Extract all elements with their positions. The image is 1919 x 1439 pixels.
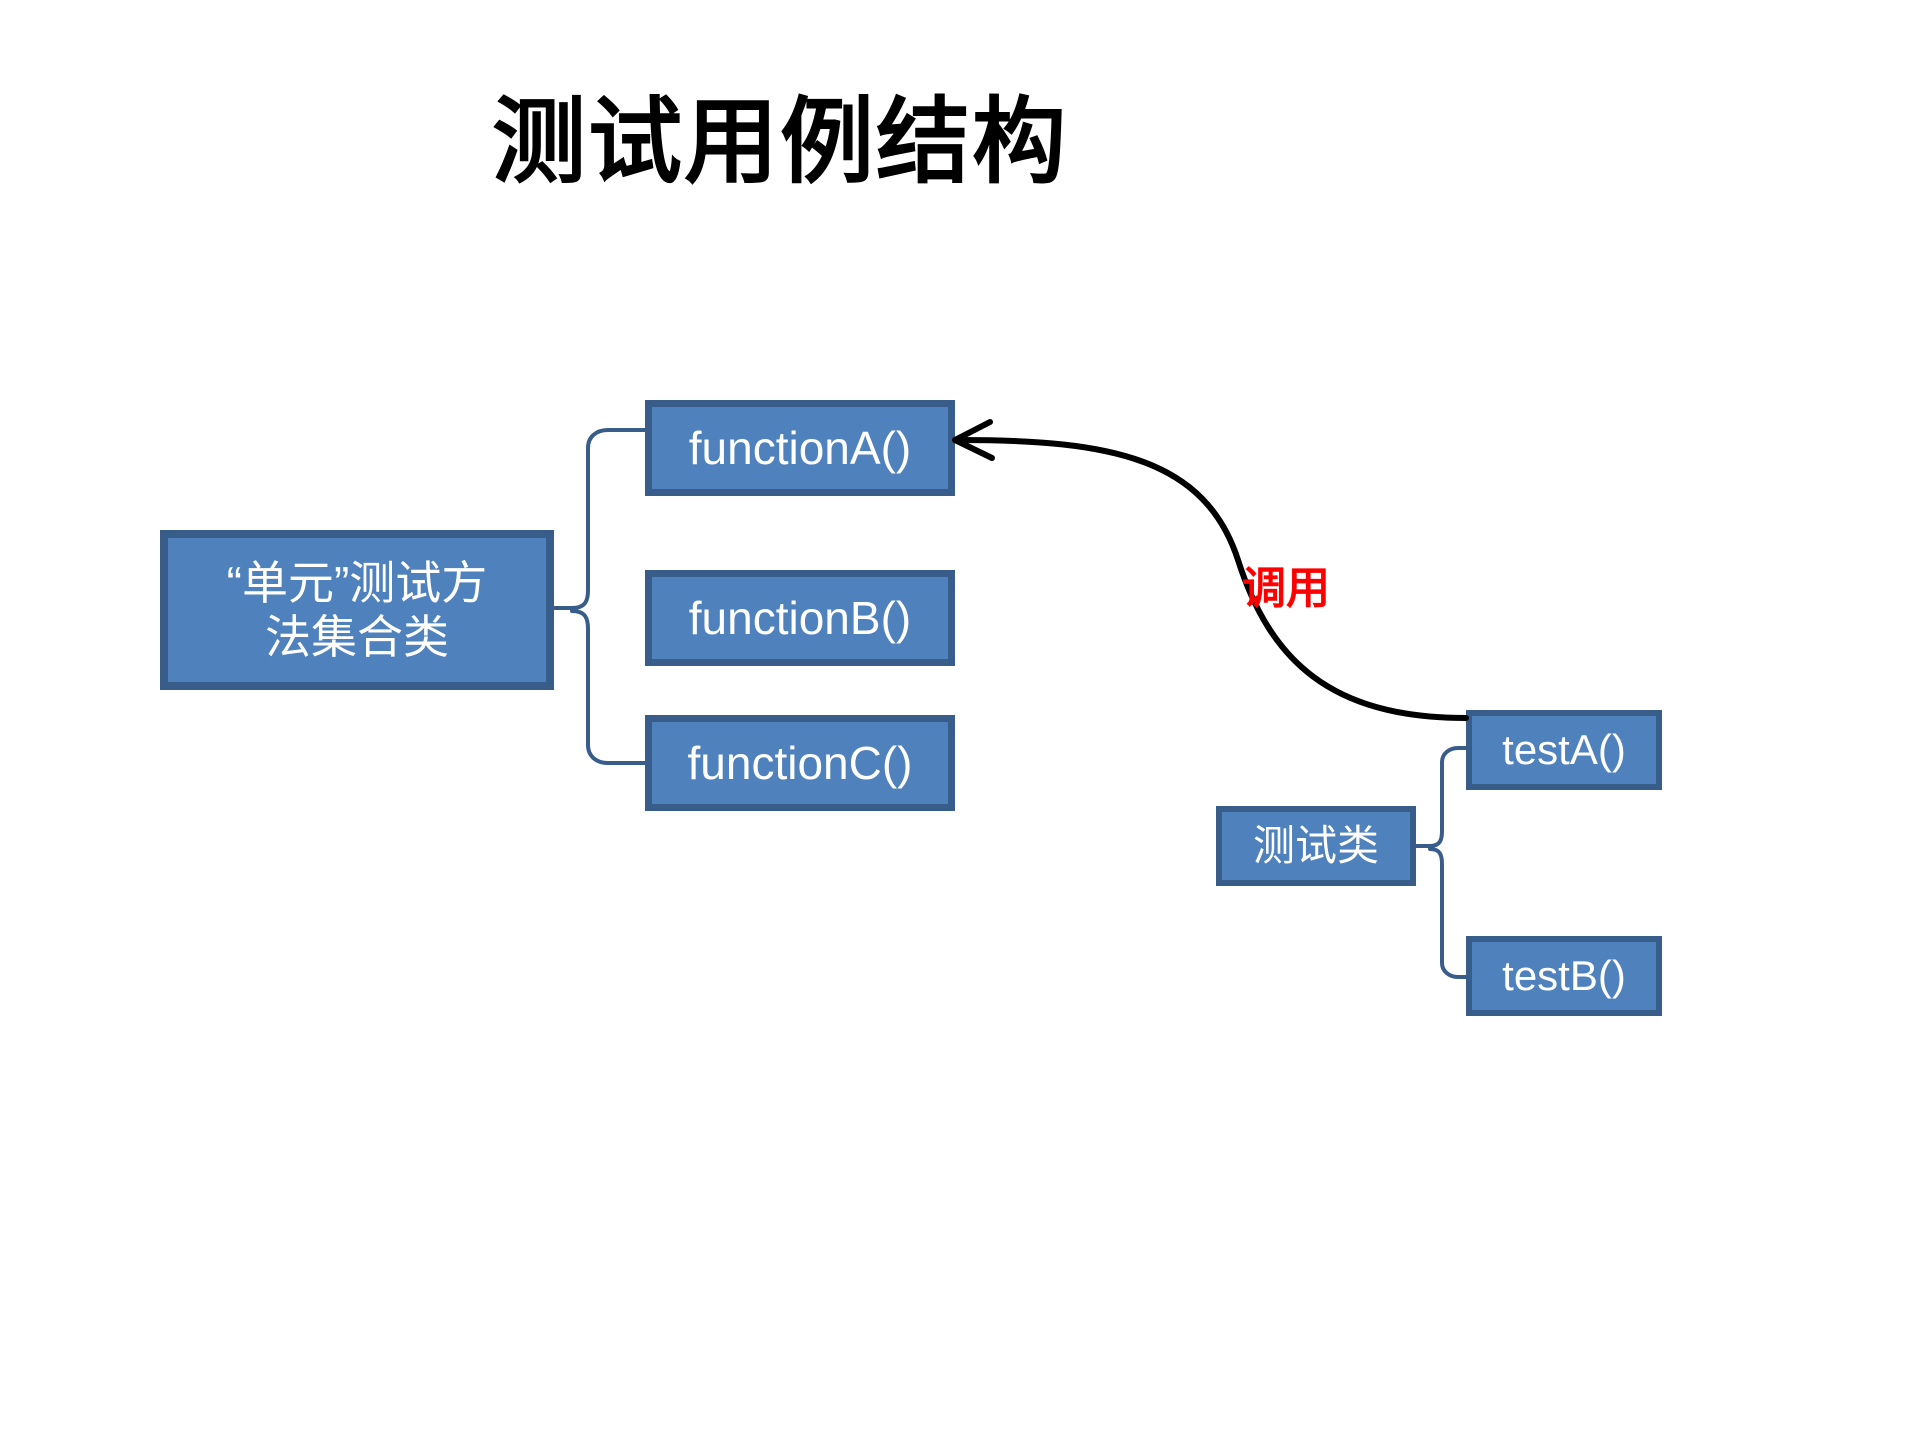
node-test-a[interactable]: testA(): [1466, 710, 1662, 790]
node-function-b[interactable]: functionB(): [645, 570, 955, 666]
node-function-c-label: functionC(): [652, 736, 948, 790]
node-function-a-label: functionA(): [652, 421, 948, 475]
call-annotation-label: 调用: [1196, 552, 1376, 616]
slide-canvas: 测试用例结构 “单元”测试方 法集合类 functionA() function…: [0, 0, 1919, 1439]
node-unit-test-method-class-label: “单元”测试方 法集合类: [168, 556, 546, 665]
node-test-class-label: 测试类: [1222, 821, 1410, 871]
node-test-a-label: testA(): [1472, 725, 1656, 775]
node-unit-test-method-class[interactable]: “单元”测试方 法集合类: [160, 530, 554, 690]
node-function-a[interactable]: functionA(): [645, 400, 955, 496]
node-test-class[interactable]: 测试类: [1216, 806, 1416, 886]
node-test-b[interactable]: testB(): [1466, 936, 1662, 1016]
page-title: 测试用例结构: [0, 88, 1560, 196]
node-function-b-label: functionB(): [652, 591, 948, 645]
call-arrowhead: [955, 422, 992, 458]
connector-test-class-to-tests: [1416, 748, 1466, 977]
node-function-c[interactable]: functionC(): [645, 715, 955, 811]
node-test-b-label: testB(): [1472, 951, 1656, 1001]
connector-unit-class-to-functions: [554, 430, 645, 763]
